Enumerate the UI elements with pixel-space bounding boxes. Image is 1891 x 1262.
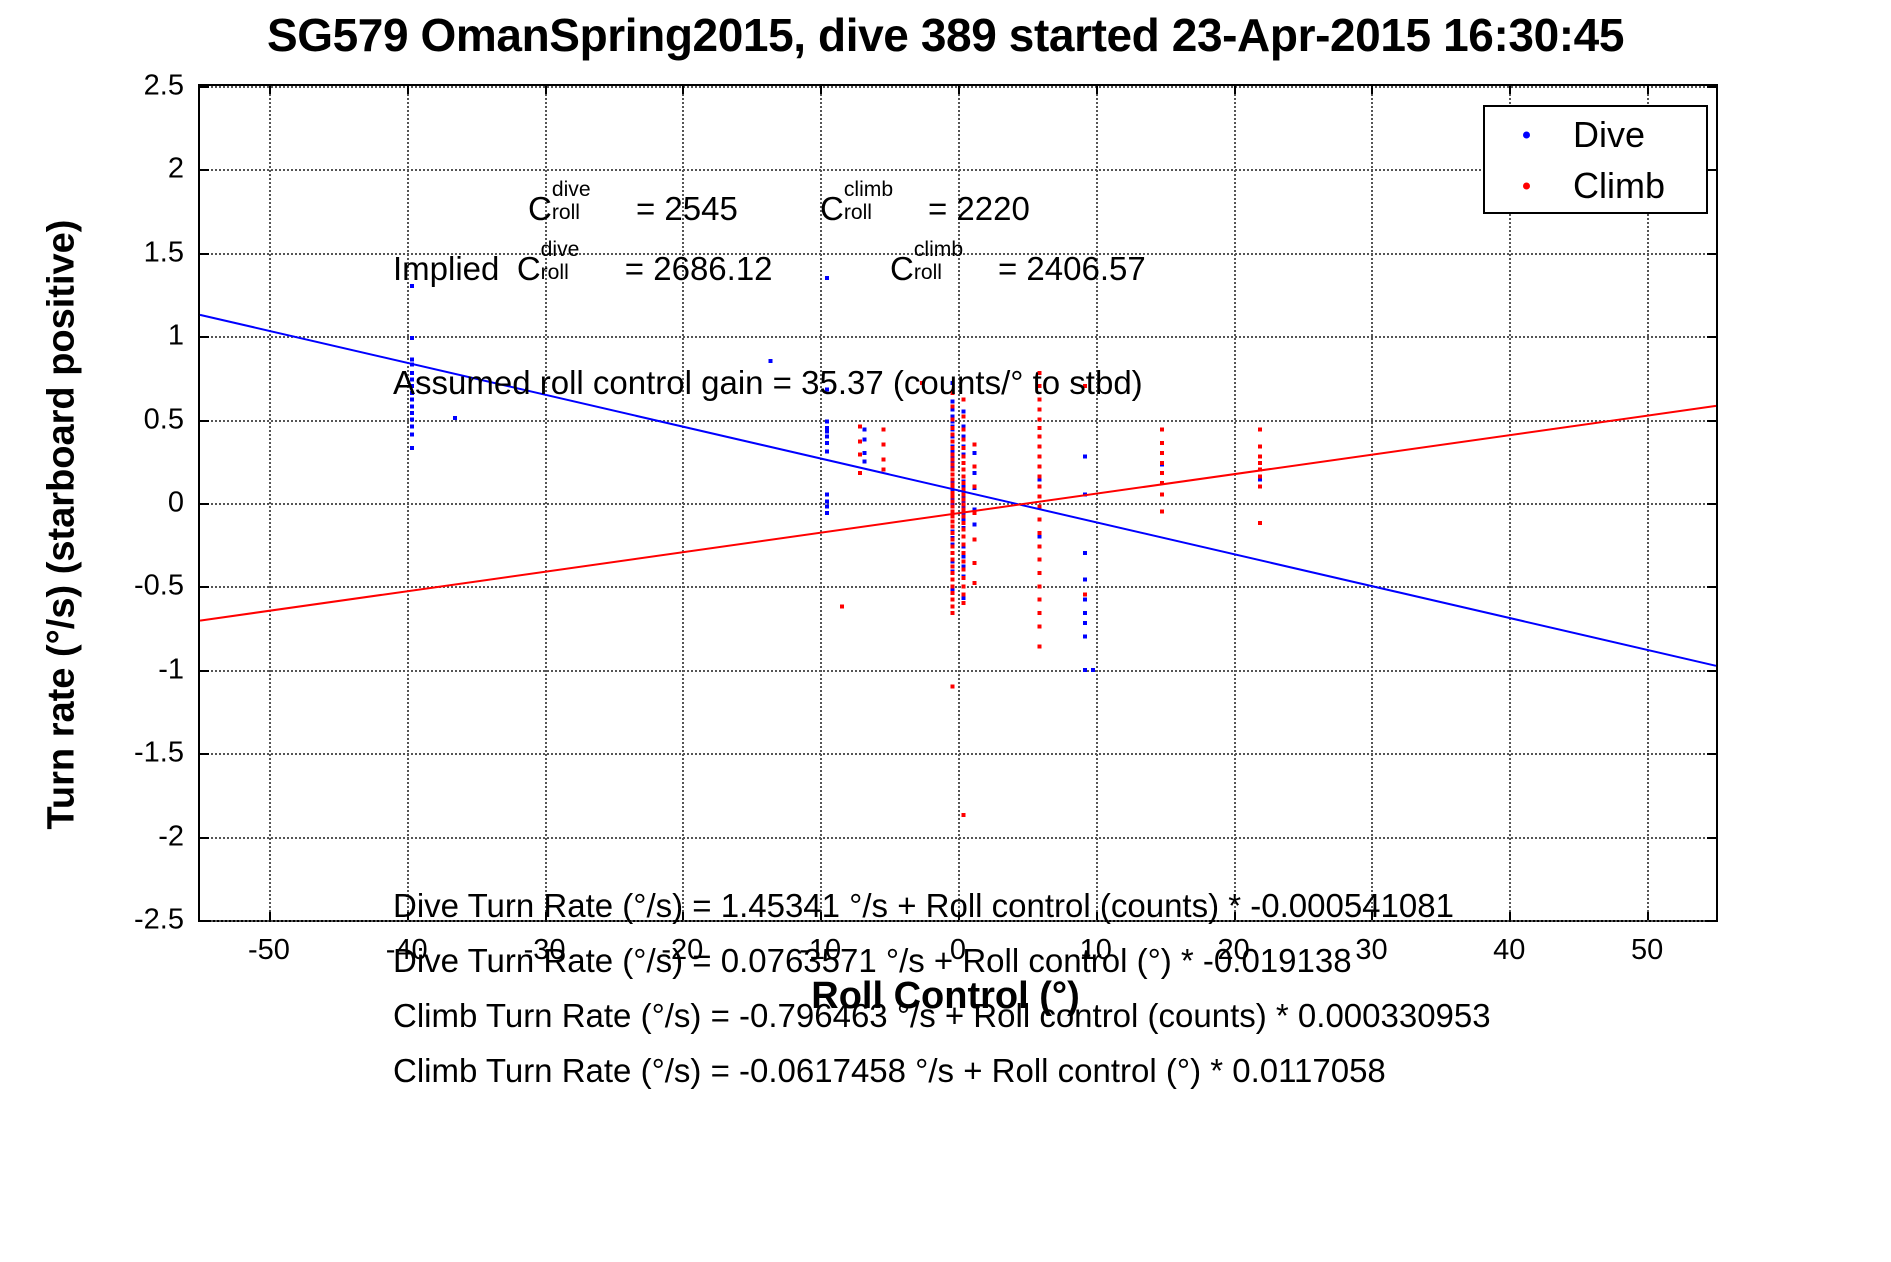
data-point (1091, 668, 1095, 672)
data-point (858, 471, 862, 475)
data-point (962, 528, 966, 532)
data-point (973, 581, 977, 585)
y-tick-label: 2 (80, 153, 184, 186)
data-point (973, 484, 977, 488)
annotation-croll-dive: Cdiveroll= 2545 (528, 192, 738, 225)
data-point (962, 474, 966, 478)
data-point (950, 433, 954, 437)
data-point (962, 521, 966, 525)
data-point (410, 411, 414, 415)
y-tick-label: 2.5 (80, 70, 184, 103)
equation-line-4: Climb Turn Rate (°/s) = -0.0617458 °/s +… (393, 1054, 1386, 1087)
data-point (962, 601, 966, 605)
data-point (1258, 454, 1262, 458)
y-tick-label: 1.5 (80, 236, 184, 269)
data-point (962, 559, 966, 563)
data-point (1037, 464, 1041, 468)
data-point (858, 453, 862, 457)
data-point (825, 449, 829, 453)
data-point (1258, 474, 1262, 478)
data-point (950, 598, 954, 602)
data-point (973, 464, 977, 468)
data-point (1037, 531, 1041, 535)
data-point (1037, 571, 1041, 575)
data-point (825, 511, 829, 515)
data-point (950, 611, 954, 615)
data-point (825, 434, 829, 438)
data-point (962, 543, 966, 547)
data-point (950, 458, 954, 462)
data-point (950, 509, 954, 513)
data-point (410, 433, 414, 437)
data-point (825, 493, 829, 497)
data-point (1083, 668, 1087, 672)
data-point (1037, 444, 1041, 448)
data-point (1258, 444, 1262, 448)
data-point (1083, 593, 1087, 597)
equation-line-2: Dive Turn Rate (°/s) = 0.0763571 °/s + R… (393, 944, 1352, 977)
data-point (962, 576, 966, 580)
data-point (825, 419, 829, 423)
data-point (825, 499, 829, 503)
data-point (950, 558, 954, 562)
data-point (882, 468, 886, 472)
data-point (1083, 578, 1087, 582)
annotation-croll-climb: Cclimbroll= 2220 (820, 192, 1030, 225)
data-point (1083, 611, 1087, 615)
data-point (1083, 454, 1087, 458)
x-tick-label: 30 (1355, 934, 1387, 967)
data-point (410, 336, 414, 340)
data-point (1258, 428, 1262, 432)
data-point (950, 463, 954, 467)
data-point (962, 461, 966, 465)
data-point (1258, 461, 1262, 465)
data-point (1037, 484, 1041, 488)
data-point (410, 404, 414, 408)
data-point (973, 451, 977, 455)
data-point (962, 503, 966, 507)
data-point (962, 446, 966, 450)
scatter-series-dive (410, 276, 1262, 672)
data-point (962, 498, 966, 502)
y-tick-label: 0.5 (80, 403, 184, 436)
y-tick-label: -2.5 (80, 904, 184, 937)
data-point (962, 493, 966, 497)
data-point (1037, 426, 1041, 430)
y-tick-label: 0 (80, 487, 184, 520)
equation-line-1: Dive Turn Rate (°/s) = 1.45341 °/s + Rol… (393, 889, 1454, 922)
legend: Dive Climb (1483, 105, 1708, 214)
data-point (950, 418, 954, 422)
data-point (1037, 544, 1041, 548)
data-point (950, 584, 954, 588)
data-point (882, 458, 886, 462)
y-tick-label: -1 (80, 653, 184, 686)
data-point (1037, 644, 1041, 648)
data-point (410, 424, 414, 428)
scatter-series-climb (840, 371, 1262, 817)
y-tick-label: -2 (80, 820, 184, 853)
data-point (962, 551, 966, 555)
data-point (962, 593, 966, 597)
data-point (862, 451, 866, 455)
data-point (862, 459, 866, 463)
data-point (1083, 621, 1087, 625)
data-point (1160, 451, 1164, 455)
data-point (950, 551, 954, 555)
data-point (1037, 454, 1041, 458)
data-point (950, 604, 954, 608)
data-point (950, 504, 954, 508)
data-point (1037, 504, 1041, 508)
annotation-implied-climb: Cclimbroll= 2406.57 (890, 252, 1146, 285)
data-point (1037, 558, 1041, 562)
data-point (1258, 521, 1262, 525)
data-point (410, 418, 414, 422)
data-point (950, 499, 954, 503)
data-point (1160, 461, 1164, 465)
y-tick (1707, 920, 1716, 922)
data-point (1037, 611, 1041, 615)
data-point (950, 439, 954, 443)
data-point (1083, 598, 1087, 602)
data-point (950, 684, 954, 688)
figure-title: SG579 OmanSpring2015, dive 389 started 2… (0, 8, 1891, 62)
data-point (950, 564, 954, 568)
legend-dive-label: Dive (1573, 114, 1645, 156)
data-point (950, 544, 954, 548)
data-point (950, 426, 954, 430)
data-point (950, 473, 954, 477)
x-tick-label: 40 (1493, 934, 1525, 967)
equation-line-3: Climb Turn Rate (°/s) = -0.796463 °/s + … (393, 999, 1491, 1032)
data-point (950, 591, 954, 595)
data-point (1083, 551, 1087, 555)
legend-climb-label: Climb (1573, 165, 1665, 207)
data-point (962, 481, 966, 485)
data-point (962, 454, 966, 458)
data-point (1160, 428, 1164, 432)
data-point (1258, 484, 1262, 488)
data-point (962, 468, 966, 472)
x-tick-label: 50 (1631, 934, 1663, 967)
data-point (962, 409, 966, 413)
data-point (973, 561, 977, 565)
data-point (962, 508, 966, 512)
data-point (862, 438, 866, 442)
data-point (962, 813, 966, 817)
data-point (950, 478, 954, 482)
data-point (1037, 518, 1041, 522)
data-point (962, 414, 966, 418)
legend-dive-marker-icon (1523, 132, 1530, 139)
data-point (950, 446, 954, 450)
figure-root: SG579 OmanSpring2015, dive 389 started 2… (0, 0, 1891, 1262)
fit-line-climb (200, 406, 1716, 621)
data-point (950, 404, 954, 408)
data-point (825, 429, 829, 433)
legend-climb-marker-icon (1523, 183, 1530, 190)
data-point (950, 519, 954, 523)
data-point (1037, 418, 1041, 422)
y-axis-title: Turn rate (°/s) (starboard positive) (41, 145, 84, 905)
data-point (1160, 441, 1164, 445)
data-point (882, 428, 886, 432)
data-point (825, 441, 829, 445)
legend-item-climb: Climb (1485, 162, 1706, 210)
data-point (962, 438, 966, 442)
data-point (973, 523, 977, 527)
data-point (882, 443, 886, 447)
data-point (862, 428, 866, 432)
data-point (950, 468, 954, 472)
y-tick (200, 920, 209, 922)
data-point (973, 471, 977, 475)
annotation-roll-gain: Assumed roll control gain = 35.37 (count… (393, 366, 1143, 399)
data-point (1037, 408, 1041, 412)
data-point (950, 524, 954, 528)
annotation-implied-dive: Implied Cdiveroll= 2686.12 (393, 252, 773, 285)
data-point (1037, 494, 1041, 498)
data-point (962, 584, 966, 588)
data-point (962, 514, 966, 518)
y-tick-label: 1 (80, 320, 184, 353)
data-point (410, 358, 414, 362)
data-point (858, 424, 862, 428)
data-point (962, 568, 966, 572)
data-point (1160, 471, 1164, 475)
data-point (1037, 584, 1041, 588)
data-point (950, 453, 954, 457)
data-point (858, 439, 862, 443)
data-point (962, 534, 966, 538)
y-tick-label: -0.5 (80, 570, 184, 603)
implied-prefix: Implied (393, 250, 499, 287)
data-point (962, 428, 966, 432)
data-point (1037, 434, 1041, 438)
data-point (950, 571, 954, 575)
data-point (825, 504, 829, 508)
data-point (973, 443, 977, 447)
data-point (950, 538, 954, 542)
data-point (1083, 634, 1087, 638)
y-tick-label: -1.5 (80, 737, 184, 770)
data-point (950, 578, 954, 582)
legend-item-dive: Dive (1485, 111, 1706, 159)
data-point (973, 538, 977, 542)
data-point (840, 604, 844, 608)
data-point (1037, 598, 1041, 602)
data-point (950, 531, 954, 535)
data-point (1037, 474, 1041, 478)
x-tick-label: -50 (248, 934, 290, 967)
data-point (453, 416, 457, 420)
data-point (410, 446, 414, 450)
data-point (825, 276, 829, 280)
data-point (769, 359, 773, 363)
data-point (1160, 493, 1164, 497)
data-point (1160, 509, 1164, 513)
data-point (1037, 624, 1041, 628)
data-point (950, 494, 954, 498)
